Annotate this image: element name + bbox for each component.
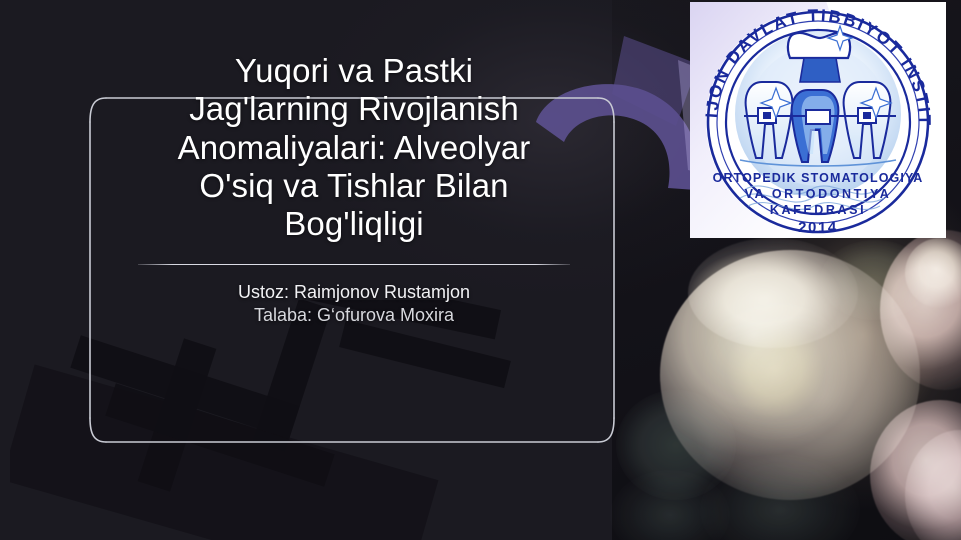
instructor-line: Ustoz: Raimjonov Rustamjon: [238, 282, 470, 302]
title-line: Yuqori va Pastki: [235, 52, 473, 89]
logo-department-line-3: KAFEDRASI: [770, 203, 866, 217]
logo-department-line-1: ORTOPEDIK STOMATOLOGIYA: [713, 171, 924, 185]
title-line: Anomaliyalari: Alveolyar: [178, 129, 531, 166]
title-line: O'siq va Tishlar Bilan: [199, 167, 508, 204]
foliage-top: [820, 240, 930, 320]
title-line: Bog'liqligi: [284, 205, 423, 242]
logo-year: 2014: [798, 219, 838, 236]
logo-department-line-2: VA ORTODONTIYA: [745, 187, 892, 201]
student-line: Talaba: G‘ofurova Moxira: [254, 305, 454, 325]
page-title: Yuqori va Pastki Jag'larning Rivojlanish…: [96, 52, 612, 243]
title-slide: Yuqori va Pastki Jag'larning Rivojlanish…: [0, 0, 961, 540]
title-divider: [138, 264, 570, 265]
text-content: Yuqori va Pastki Jag'larning Rivojlanish…: [96, 52, 612, 327]
logo-emblem: ANDIJON DAVLAT TIBBIYOT INSTITUTI: [700, 4, 936, 236]
institute-logo: ANDIJON DAVLAT TIBBIYOT INSTITUTI: [690, 2, 946, 238]
title-line: Jag'larning Rivojlanish: [189, 90, 519, 127]
subtitle: Ustoz: Raimjonov Rustamjon Talaba: G‘ofu…: [96, 281, 612, 327]
